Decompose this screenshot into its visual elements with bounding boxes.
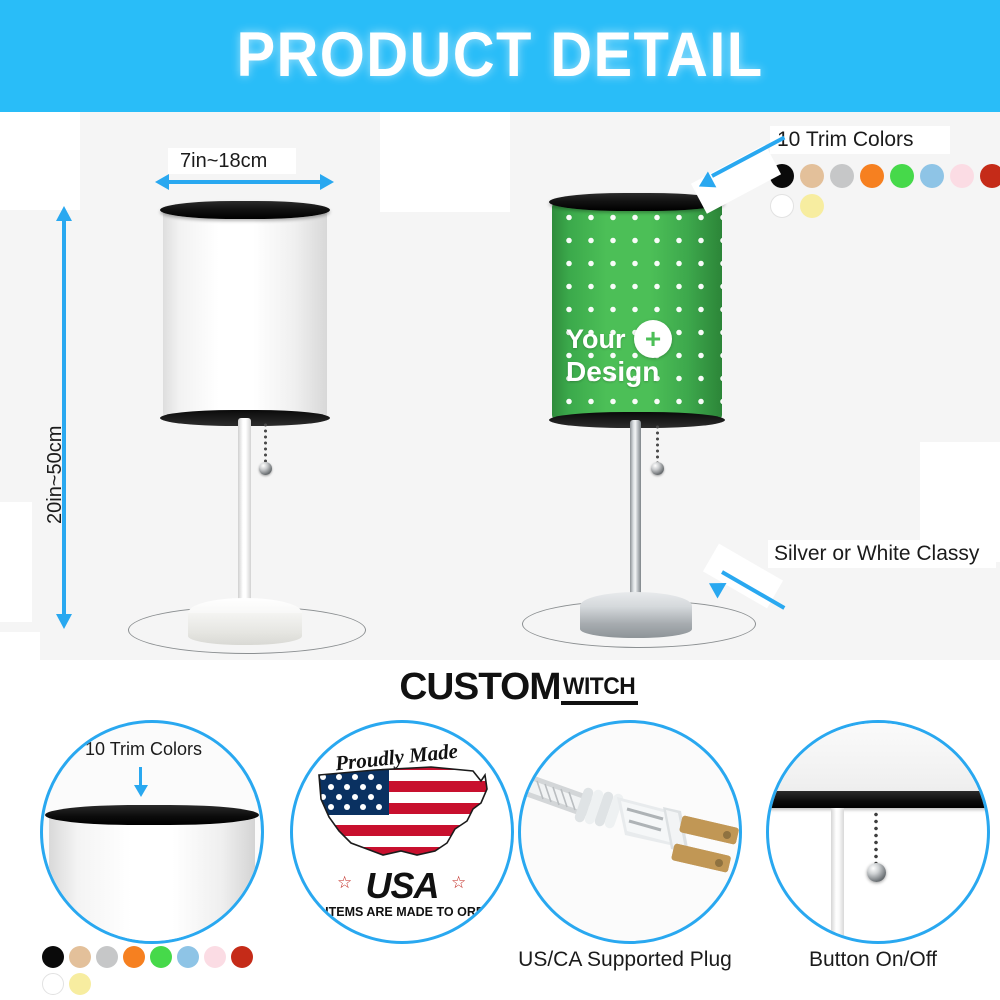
width-arrow-line — [167, 180, 323, 184]
trim-swatch-light-blue[interactable] — [177, 946, 199, 968]
width-arrow-head-right — [320, 174, 334, 190]
logo-lockup: CUSTOM WITCH — [362, 665, 637, 705]
feature-row: 10 Trim Colors Proudly Made in the — [0, 710, 1000, 1000]
logo-underline — [561, 701, 637, 705]
usa-badge: Proudly Made in the — [293, 723, 511, 941]
trim-swatch-red[interactable] — [231, 946, 253, 968]
height-arrow-line — [62, 220, 66, 618]
trim-swatch-tan[interactable] — [800, 164, 824, 188]
trim-swatch-yellow[interactable] — [800, 194, 824, 218]
trim-swatch-tan[interactable] — [69, 946, 91, 968]
feature-made-in-usa: Proudly Made in the — [272, 710, 522, 1000]
pull-chain-ball-crop[interactable] — [867, 863, 886, 882]
lamp-pole-silver — [630, 420, 641, 618]
pull-chain[interactable] — [656, 424, 659, 466]
lamp-pole-crop — [831, 808, 844, 941]
shade-crop-white — [49, 815, 255, 944]
trim-swatch-orange[interactable] — [860, 164, 884, 188]
logo-c-mark-icon — [362, 665, 400, 705]
page-title: PRODUCT DETAIL — [40, 24, 960, 87]
feature-circle-trim: 10 Trim Colors — [40, 720, 264, 944]
trim-swatch-red[interactable] — [980, 164, 1000, 188]
usa-footer-text: ALL ITEMS ARE MADE TO ORDER! — [293, 905, 511, 919]
showcase-area: Your + Design 7in~18cm 2 — [0, 112, 1000, 710]
star-right-icon: ☆ — [451, 873, 466, 893]
lampshade-white — [163, 210, 327, 418]
trim-swatch-white[interactable] — [770, 194, 794, 218]
width-dimension-label: 7in~18cm — [180, 150, 267, 173]
logo-secondary-text: WITCH — [563, 675, 635, 699]
feature-plug: US/CA Supported Plug — [500, 710, 750, 1000]
trim-swatch-light-blue[interactable] — [920, 164, 944, 188]
lamp-base-white — [188, 598, 302, 646]
lamp-base-silver — [580, 592, 692, 640]
trim-swatch-gray[interactable] — [830, 164, 854, 188]
feature-trim-swatches — [42, 946, 262, 995]
trim-swatch-pink[interactable] — [204, 946, 226, 968]
shade-bottom-crop — [766, 720, 990, 795]
pull-chain-crop[interactable] — [874, 811, 878, 867]
brand-logo: CUSTOM WITCH — [0, 660, 1000, 710]
trim-color-swatches — [770, 164, 1000, 218]
lampshade-custom: Your + Design — [552, 202, 722, 420]
power-plug-icon — [521, 723, 739, 941]
feature-plug-caption: US/CA Supported Plug — [500, 948, 750, 972]
height-arrow-head-bottom — [56, 614, 72, 629]
trim-bar-black — [766, 791, 990, 808]
product-detail-page: PRODUCT DETAIL — [0, 0, 1000, 1000]
trim-swatch-green[interactable] — [150, 946, 172, 968]
trim-colors-label: 10 Trim Colors — [777, 128, 914, 152]
shade-crop-trim — [45, 805, 259, 825]
logo-primary-text: CUSTOM — [400, 669, 561, 705]
trim-top-black — [160, 201, 330, 219]
logo-secondary-group: WITCH — [561, 675, 637, 705]
feature-switch: Button On/Off — [748, 710, 998, 1000]
base-side-face — [188, 613, 302, 645]
plus-icon: + — [645, 325, 661, 353]
trim-swatch-green[interactable] — [890, 164, 914, 188]
base-finish-label: Silver or White Classy — [774, 542, 979, 566]
usa-country-text: USA — [293, 865, 511, 907]
base-side-face — [580, 606, 692, 638]
trim-swatch-pink[interactable] — [950, 164, 974, 188]
height-arrow-head-top — [56, 206, 72, 221]
trim-down-arrow-head — [134, 785, 148, 797]
feature-switch-caption: Button On/Off — [748, 948, 998, 972]
trim-swatch-gray[interactable] — [96, 946, 118, 968]
trim-swatch-yellow[interactable] — [69, 973, 91, 995]
trim-swatch-white[interactable] — [42, 973, 64, 995]
width-arrow-head-left — [155, 174, 169, 190]
pull-chain[interactable] — [264, 422, 267, 466]
design-text-line-2: Design — [566, 358, 659, 387]
feature-trim-inner-label: 10 Trim Colors — [85, 739, 202, 760]
polka-dot-pattern — [552, 202, 722, 420]
trim-swatch-orange[interactable] — [123, 946, 145, 968]
pull-chain-ball[interactable] — [259, 462, 272, 475]
lamp-pole-white — [238, 418, 251, 624]
design-text-line-1: Your — [566, 326, 626, 354]
pull-chain-ball[interactable] — [651, 462, 664, 475]
trim-swatch-black[interactable] — [42, 946, 64, 968]
lampshade-surface — [163, 210, 327, 418]
add-design-badge[interactable]: + — [634, 320, 672, 358]
feature-circle-plug — [518, 720, 742, 944]
feature-trim-colors: 10 Trim Colors — [22, 710, 272, 1000]
usa-map-flag-icon — [305, 759, 501, 869]
feature-circle-usa: Proudly Made in the — [290, 720, 514, 944]
feature-circle-switch — [766, 720, 990, 944]
